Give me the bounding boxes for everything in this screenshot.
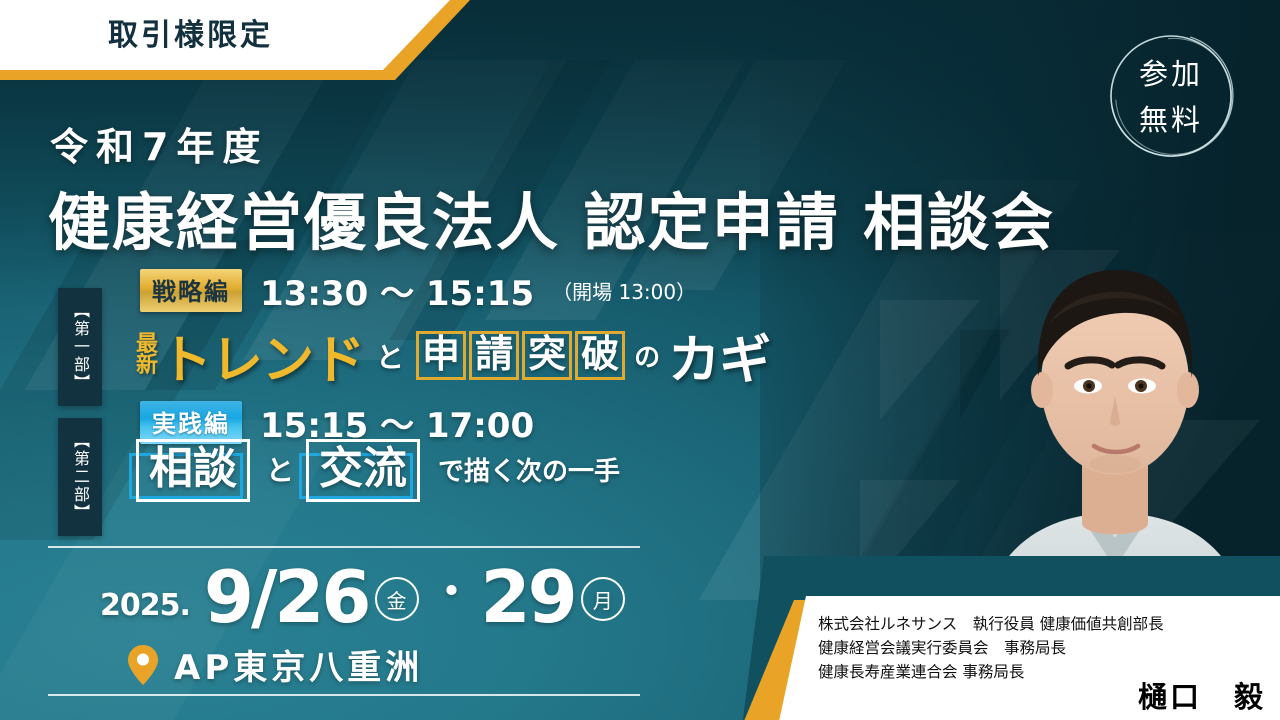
- ribbon-label: 取引様限定: [0, 0, 450, 54]
- part-1-prefix: 最 新: [136, 335, 158, 376]
- part-2-framed-1: 相談: [136, 446, 250, 492]
- divider-bottom: [48, 694, 640, 696]
- part-1-boxed-char-1: 申: [416, 331, 466, 380]
- part-1-boxed-char-4: 破: [575, 331, 625, 380]
- part-1-particle: の: [634, 337, 660, 374]
- venue-row: AP東京八重洲: [128, 640, 423, 689]
- ribbon-limited-banner: 取引様限定: [0, 0, 450, 70]
- part-1-suffix: カギ: [668, 318, 770, 393]
- date-year: 2025.: [100, 588, 190, 623]
- part-2-framed-2-label: 交流: [306, 439, 420, 502]
- part-2-tail: で描く次の一手: [438, 451, 620, 488]
- part-1-boxed-char-2: 請: [469, 331, 519, 380]
- fiscal-year-label: 令和7年度: [50, 116, 268, 171]
- part-2-badge: 実践編: [140, 401, 242, 444]
- date-day-1: 9/26: [204, 563, 369, 631]
- part-1-prefix-bottom: 新: [136, 356, 158, 377]
- part-2-framed-1-label: 相談: [136, 439, 250, 502]
- part-1-boxed-char-3: 突: [522, 331, 572, 380]
- poster-canvas: 取引様限定 参加 無料 令和7年度 健康経営優良法人 認定申請 相談会 【第一部…: [0, 0, 1280, 720]
- divider-top: [48, 546, 640, 548]
- part-2-headline: 相談 と 交流 で描く次の一手: [136, 446, 620, 492]
- date-day-2: 29: [481, 563, 575, 631]
- part-1-time: 13:30 〜 15:15: [260, 266, 534, 315]
- part-1-headline: 最 新 トレンド と 申 請 突 破 の カギ: [136, 318, 770, 393]
- part-1-conjunction: と: [376, 336, 404, 376]
- event-date: 2025. 9/26 金 ・ 29 月: [100, 558, 631, 631]
- date-day-2-weekday: 月: [581, 577, 625, 621]
- part-1-tag: 【第一部】: [58, 288, 102, 406]
- page-title: 健康経営優良法人 認定申請 相談会: [48, 172, 1055, 262]
- part-1-open-note: （開場 13:00）: [552, 276, 696, 305]
- speaker-affiliation-line-3: 健康長寿産業連合会 事務局長: [818, 660, 1268, 684]
- part-2-tag: 【第二部】: [58, 418, 102, 536]
- free-participation-badge: 参加 無料: [1096, 20, 1246, 170]
- venue-name: AP東京八重洲: [174, 640, 423, 689]
- date-day-1-weekday: 金: [375, 577, 419, 621]
- part-2-framed-2: 交流: [306, 446, 420, 492]
- map-pin-icon: [128, 645, 158, 685]
- speaker-affiliations: 株式会社ルネサンス 執行役員 健康価値共創部長 健康経営会議実行委員会 事務局長…: [818, 612, 1268, 684]
- part-2-conjunction: と: [266, 449, 294, 489]
- part-1-highlight: トレンド: [160, 318, 364, 393]
- free-badge-line-1: 参加: [1139, 51, 1203, 93]
- free-badge-line-2: 無料: [1139, 97, 1203, 139]
- part-1-badge: 戦略編: [140, 269, 242, 312]
- date-separator: ・: [431, 558, 473, 619]
- speaker-affiliation-line-1: 株式会社ルネサンス 執行役員 健康価値共創部長: [818, 612, 1268, 636]
- part-1-time-row: 戦略編 13:30 〜 15:15 （開場 13:00）: [140, 266, 696, 315]
- speaker-affiliation-line-2: 健康経営会議実行委員会 事務局長: [818, 636, 1268, 660]
